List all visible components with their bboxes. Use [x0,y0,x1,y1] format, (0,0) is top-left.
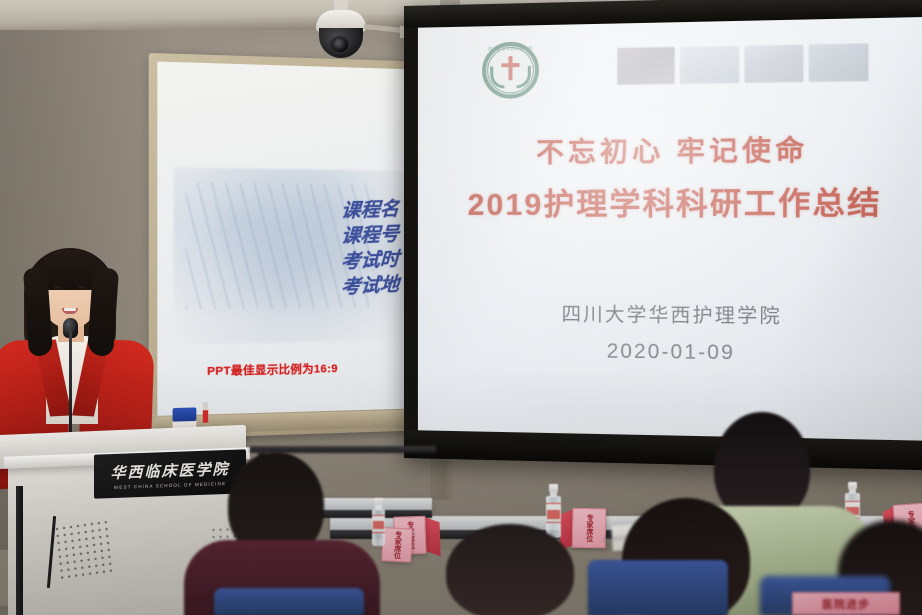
slide-subtitle-organization: 四川大学华西护理学院 [418,298,922,330]
bottom-nameplate-banner: 医院进步 [792,592,900,615]
slide-subtitle-date: 2020-01-09 [418,338,922,368]
screen-surface: 四川大学华西护理学院 不忘初心 牢记使命 2019护理学科科研工作总结 四川大学… [418,17,922,441]
university-emblem-icon: 四川大学华西护理学院 [482,41,539,99]
emblem-cross-horizontal [501,63,519,67]
speaker-eye-right [78,286,86,289]
campus-photo-1 [617,47,675,85]
presentation-scene: 课程名 课程号 考试时 考试地 PPT最佳显示比例为16:9 [0,0,922,615]
whiteboard-eraser [173,407,197,421]
front-center-head [446,524,574,615]
speaker-eye-left [54,286,62,289]
bottle-2-label-accent [547,510,560,519]
audience-person-front-center [428,524,596,615]
podium-leg [16,486,23,615]
whiteboard-marker [203,402,208,423]
whiteboard: 课程名 课程号 考试时 考试地 PPT最佳显示比例为16:9 [149,53,432,439]
slide-title-line-2: 2019护理学科科研工作总结 [418,177,922,224]
camera-lens-icon [330,36,350,54]
slide-title-line-1: 不忘初心 牢记使命 [418,126,922,170]
whiteboard-surface: 课程名 课程号 考试时 考试地 PPT最佳显示比例为16:9 [157,62,424,416]
presentation-slide: 四川大学华西护理学院 不忘初心 牢记使命 2019护理学科科研工作总结 四川大学… [418,17,922,441]
slide-photo-strip [617,43,868,84]
podium-speaker-grille-left [53,518,113,581]
campus-photo-3 [744,45,803,83]
campus-photo-4 [809,43,869,82]
ptz-dome-camera-icon [316,8,366,60]
speaker-teeth [64,308,76,311]
chair-left [214,588,364,615]
chair-center [588,560,728,615]
emblem-text: 四川大学华西护理学院 [482,45,539,52]
emblem-cross-vertical [508,56,512,80]
projection-screen: 四川大学华西护理学院 不忘初心 牢记使命 2019护理学科科研工作总结 四川大学… [404,0,922,471]
bottom-banner-text: 医院进步 [822,596,870,612]
nameplate-4-text: 专家席位 [392,531,401,559]
campus-photo-2 [680,46,738,84]
whiteboard-red-note: PPT最佳显示比例为16:9 [207,360,338,379]
nameplate-card-4: 专家席位 [381,527,417,565]
nameplate-4-face: 专家席位 [381,527,413,563]
bottle-2-cap [549,484,559,492]
